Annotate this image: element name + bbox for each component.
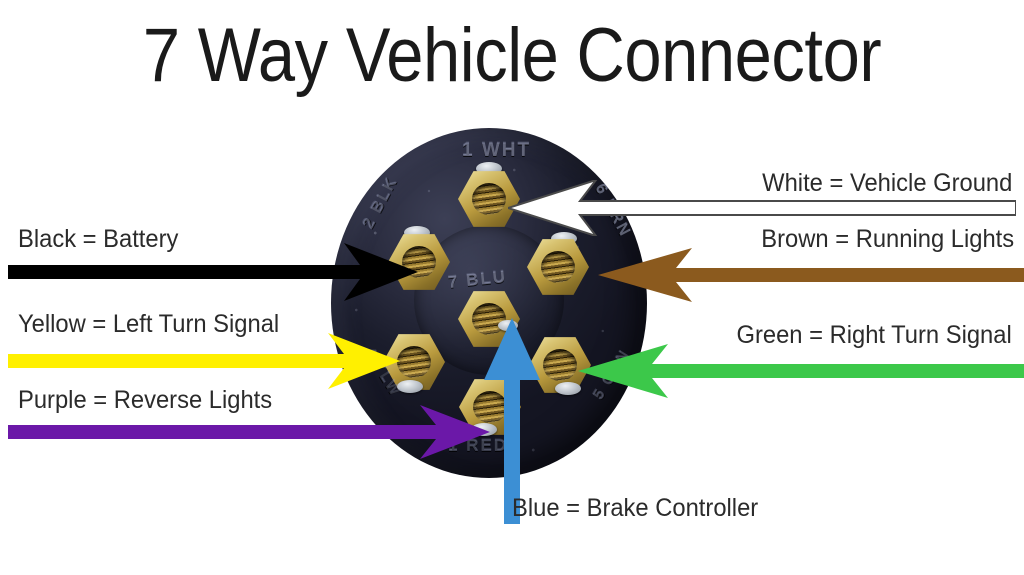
arrow-yellow (8, 333, 400, 389)
terminal-brown (527, 238, 589, 296)
label-white: White = Vehicle Ground (762, 168, 1012, 198)
label-yellow: Yellow = Left Turn Signal (18, 309, 279, 339)
terminal-bore (472, 183, 506, 215)
diagram-canvas: 7 Way Vehicle Connector (0, 0, 1024, 575)
arrow-green (578, 344, 1024, 398)
label-purple: Purple = Reverse Lights (18, 385, 272, 415)
terminal-bore (543, 349, 577, 381)
connector-marking-wht: 1 WHT (462, 140, 531, 162)
page-title: 7 Way Vehicle Connector (61, 8, 962, 104)
terminal-bore (397, 346, 431, 378)
label-blue: Blue = Brake Controller (512, 493, 758, 523)
label-black: Black = Battery (18, 224, 178, 254)
terminal-bore (541, 251, 575, 283)
arrow-brown (598, 248, 1024, 302)
label-green: Green = Right Turn Signal (737, 320, 1012, 350)
label-brown: Brown = Running Lights (761, 224, 1014, 254)
